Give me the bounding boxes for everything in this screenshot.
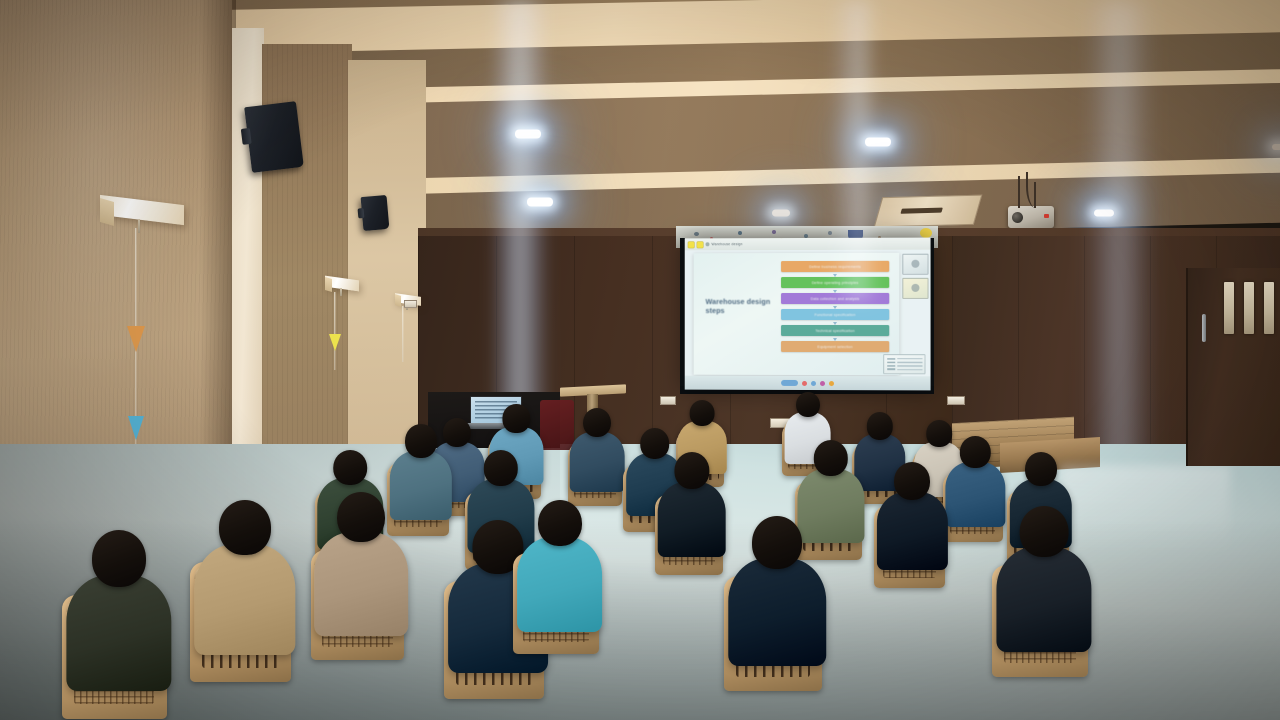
notes-icon xyxy=(887,358,895,371)
audience-member-torso xyxy=(657,482,726,558)
door-glass-slit-1 xyxy=(1224,282,1234,334)
flow-step-2: Define operating principles xyxy=(781,277,889,288)
ceiling-air-vent xyxy=(874,195,983,228)
tab-chip-2[interactable] xyxy=(697,241,704,248)
door-glass-slit-3 xyxy=(1264,282,1274,334)
ceiling-light-3 xyxy=(862,136,894,148)
audience-member-torso xyxy=(877,492,947,569)
audience-member-torso xyxy=(996,547,1091,652)
wall-speaker-mid xyxy=(361,195,390,231)
audience-member xyxy=(1000,506,1088,652)
tab-chip-1[interactable] xyxy=(688,241,695,248)
exit-door[interactable] xyxy=(1186,268,1280,466)
notes-text-lines xyxy=(897,358,922,371)
confetti-dot xyxy=(694,232,699,236)
wall-lamp-1 xyxy=(100,200,184,230)
projected-desktop: Warehouse design Warehouse design steps … xyxy=(685,238,931,391)
audience-member-head xyxy=(484,450,518,486)
flow-step-label: Equipment selection xyxy=(817,345,852,349)
audience-member-head xyxy=(219,500,271,555)
confetti-dot xyxy=(772,230,776,234)
slide-flow-diagram: Define business requirementsDefine opera… xyxy=(781,261,889,354)
audience-member xyxy=(198,500,292,656)
flow-step-1: Define business requirements xyxy=(781,261,889,272)
audience-member-head xyxy=(1025,452,1057,486)
slide-heading: Warehouse design steps xyxy=(706,297,772,315)
flow-step-label: Define business requirements xyxy=(809,264,861,268)
wall-plate-2 xyxy=(660,396,676,405)
participant-video-2[interactable] xyxy=(902,278,928,299)
audience-member-head xyxy=(92,530,146,587)
audience-member-head xyxy=(894,462,930,500)
seminar-hall-photo: Warehouse design Warehouse design steps … xyxy=(0,0,1280,720)
flow-step-6: Equipment selection xyxy=(781,341,889,352)
audience-member-torso xyxy=(570,432,625,492)
audience-member-head xyxy=(583,408,611,437)
projection-screen: Warehouse design Warehouse design steps … xyxy=(685,238,931,391)
flow-step-label: Technical specification xyxy=(815,329,854,333)
door-glass-slit-2 xyxy=(1244,282,1254,334)
flow-step-5: Technical specification xyxy=(781,325,889,336)
presentation-app-toolbar[interactable]: Warehouse design xyxy=(685,238,931,251)
ceiling-light-1 xyxy=(512,128,544,140)
audience-member-torso xyxy=(517,537,603,632)
audience-member-head xyxy=(752,516,802,569)
audience-member-head xyxy=(333,450,367,485)
audience-member-head xyxy=(337,492,385,542)
flow-step-label: Data collection and analysis xyxy=(811,296,860,300)
audience-member xyxy=(660,452,723,558)
audience-member-head xyxy=(867,412,893,440)
audience-member-torso xyxy=(66,575,171,691)
presentation-title: Warehouse design xyxy=(711,242,742,246)
flow-step-label: Define operating principles xyxy=(812,280,859,284)
slide-notes-panel[interactable] xyxy=(883,354,925,374)
hanging-streamer-2 xyxy=(328,292,342,370)
presentation-bottom-toolbar[interactable] xyxy=(685,376,931,391)
toolbar-dot-orange-icon[interactable] xyxy=(829,381,834,386)
toolbar-dot-icon xyxy=(706,242,710,246)
audience-member xyxy=(880,462,945,570)
audience-member xyxy=(520,500,599,632)
ceiling-light-2 xyxy=(524,196,556,208)
audience-member-torso xyxy=(194,544,295,656)
participant-thumbnails xyxy=(902,254,928,302)
wall-speaker-left xyxy=(244,101,304,173)
audience-member-head xyxy=(503,404,530,433)
audience-member-torso xyxy=(946,462,1005,527)
audience-member-head xyxy=(1020,506,1069,557)
flow-step-4: Functional specification xyxy=(781,309,889,320)
participant-video-1[interactable] xyxy=(902,254,928,275)
audience-member xyxy=(572,408,622,492)
audience-member xyxy=(70,530,167,692)
ceiling-light-5 xyxy=(768,208,794,218)
audience-member-head xyxy=(690,400,715,426)
audience-member-head xyxy=(814,440,848,476)
toolbar-dot-red-icon[interactable] xyxy=(802,380,807,385)
ceiling-light-6 xyxy=(1090,208,1118,218)
audience-member xyxy=(732,516,822,666)
hanging-streamer-1 xyxy=(126,228,146,458)
toolbar-dot-blue-icon[interactable] xyxy=(810,381,815,386)
flow-step-label: Functional specification xyxy=(815,312,856,316)
audience-member-torso xyxy=(314,532,408,635)
wall-plate-1 xyxy=(947,396,965,405)
audience-member xyxy=(318,492,404,636)
confetti-balloon-yellow xyxy=(920,228,932,238)
hanging-streamer-3 xyxy=(398,306,408,362)
audience-member xyxy=(948,436,1003,527)
present-button[interactable] xyxy=(781,380,798,386)
flow-step-3: Data collection and analysis xyxy=(781,293,889,304)
toolbar-dot-purple-icon[interactable] xyxy=(819,381,824,386)
audience-member-torso xyxy=(728,558,826,666)
confetti-dot xyxy=(738,231,742,235)
audience-member-head xyxy=(405,424,437,458)
slide-canvas: Warehouse design steps Define business r… xyxy=(694,253,900,375)
audience-member-head xyxy=(674,452,709,489)
ceiling-projector xyxy=(1008,206,1054,228)
confetti-dot xyxy=(828,231,832,235)
audience-member-head xyxy=(538,500,582,546)
audience-member-head xyxy=(796,392,820,417)
projector-lens-icon xyxy=(1012,212,1023,223)
audience-member-head xyxy=(960,436,990,468)
door-handle[interactable] xyxy=(1202,314,1206,342)
wall-plate-3 xyxy=(404,300,417,308)
